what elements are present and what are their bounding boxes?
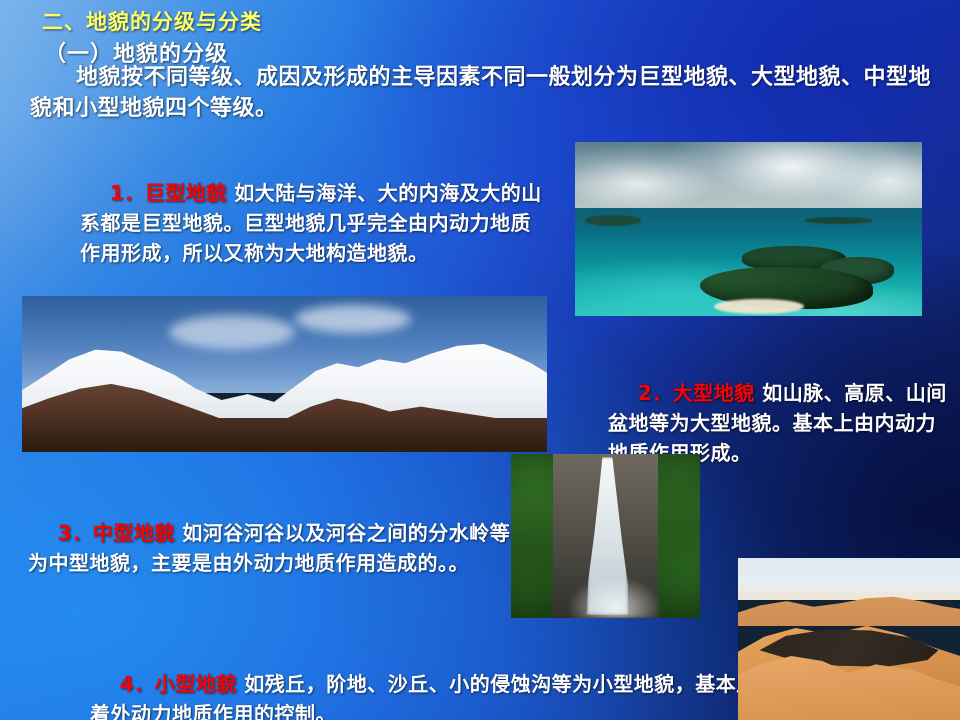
section-1-number: 1．	[110, 181, 145, 205]
section-4-number: 4．	[120, 672, 155, 696]
ocean-beach	[714, 299, 804, 315]
slide-title: 二、地貌的分级与分类	[42, 6, 262, 36]
mountain-cloud-left	[169, 315, 295, 349]
section-4-text: 4．小型地貌 如残丘，阶地、沙丘、小的侵蚀沟等为小型地貌，基本上受着外动力地质作…	[90, 639, 780, 720]
waterfall-spray	[568, 569, 663, 618]
ocean-sky	[575, 142, 922, 212]
section-2-keyword: 大型地貌	[673, 381, 755, 405]
snow-mountain-photo	[22, 296, 547, 452]
waterfall-valley-photo	[511, 454, 700, 618]
ocean-island-far-right	[804, 217, 873, 224]
mountain-foreground	[22, 418, 547, 452]
ocean-island-far-left	[585, 215, 641, 225]
section-3-text: 3．中型地貌 如河谷河谷以及河谷之间的分水岭等为中型地貌，主要是由外动力地质作用…	[28, 488, 528, 608]
sand-dunes-photo	[738, 558, 960, 720]
section-1-text: 1．巨型地貌 如大陆与海洋、大的内海及大的山系都是巨型地貌。巨型地貌几乎完全由内…	[80, 148, 550, 298]
desert-sky	[738, 558, 960, 600]
section-2-number: 2．	[638, 381, 673, 405]
ocean-islands-photo	[575, 142, 922, 316]
intro-paragraph: 地貌按不同等级、成因及形成的主导因素不同一般划分为巨型地貌、大型地貌、中型地貌和…	[30, 62, 935, 124]
section-4-keyword: 小型地貌	[155, 672, 237, 696]
slide-canvas: 二、地貌的分级与分类 （一）地貌的分级 地貌按不同等级、成因及形成的主导因素不同…	[0, 0, 960, 720]
section-3-number: 3．	[58, 521, 93, 545]
section-3-keyword: 中型地貌	[93, 521, 175, 545]
section-1-keyword: 巨型地貌	[145, 181, 227, 205]
